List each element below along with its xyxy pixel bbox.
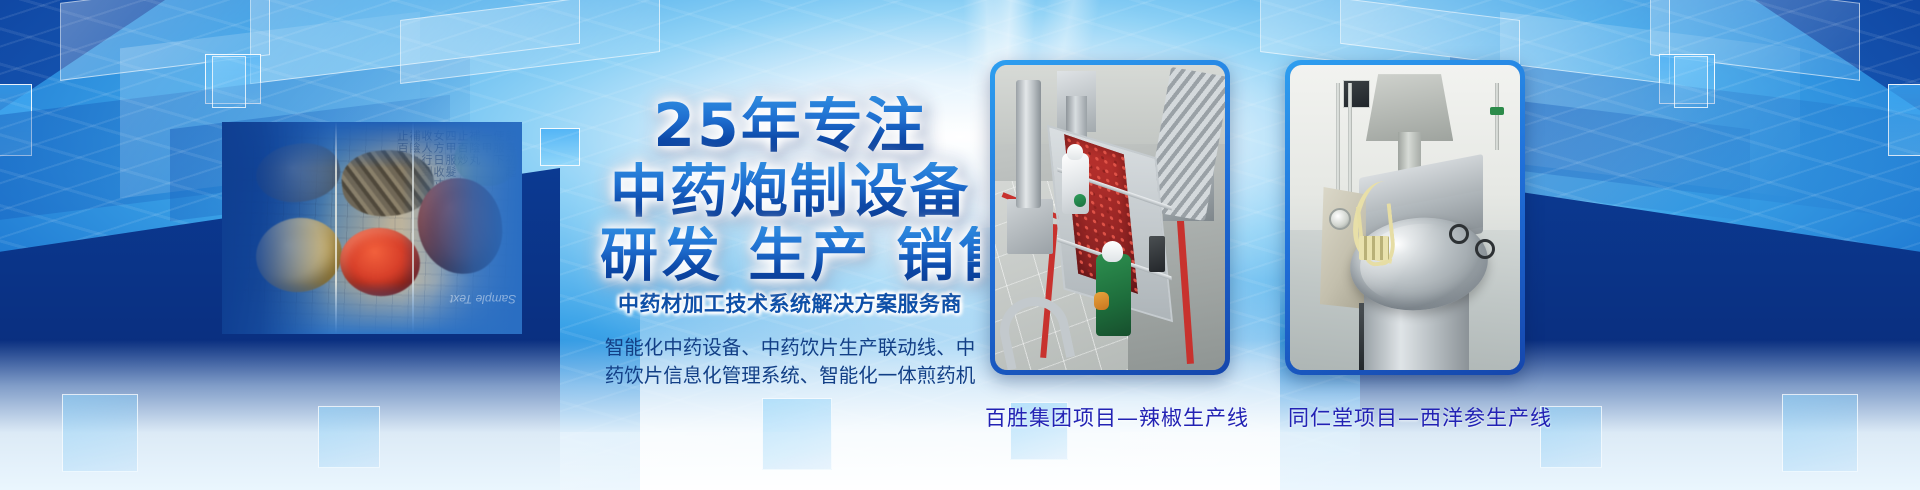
photo-worker-glove bbox=[1074, 194, 1086, 207]
headline-subtitle: 中药材加工技术系统解决方案服务商 bbox=[600, 288, 980, 318]
photo-worker-cap bbox=[1067, 144, 1084, 160]
photo-chili-line bbox=[995, 65, 1225, 370]
photo-card-ginseng-line[interactable] bbox=[1285, 60, 1525, 375]
photo-valve-manifold bbox=[1359, 236, 1389, 260]
promo-banner: 顧毒初起 便服下 一甲 補陰丸 止百炒 四甲服髮小 女方日收丈柏 收人行到 補陰… bbox=[0, 0, 1920, 490]
headline-line-2: 中药炮制设备 bbox=[600, 162, 980, 220]
photo-worker-glove bbox=[1094, 292, 1108, 310]
photo-machine-column bbox=[1016, 80, 1041, 208]
headline-body-line-1: 智能化中药设备、中药饮片生产联动线、中 bbox=[600, 334, 980, 362]
caption-chili-line: 百胜集团项目—辣椒生产线 bbox=[985, 402, 1249, 432]
headline-body: 智能化中药设备、中药饮片生产联动线、中 药饮片信息化管理系统、智能化一体煎药机 bbox=[600, 334, 980, 390]
photo-worker bbox=[1096, 254, 1131, 336]
collage-fade-left bbox=[222, 122, 332, 334]
photo-ginseng-line bbox=[1290, 65, 1520, 370]
photo-waste-bin bbox=[1149, 236, 1165, 273]
photo-card-chili-line[interactable] bbox=[990, 60, 1230, 375]
headline-block: 25年专注 中药炮制设备 研发 生产 销售 中药材加工技术系统解决方案服务商 智… bbox=[600, 96, 980, 390]
collage-watermark: Sample Text bbox=[450, 292, 516, 306]
photo-hand-wheel bbox=[1475, 239, 1495, 259]
photo-wall-valve bbox=[1495, 83, 1499, 150]
herb-collage-image: 顧毒初起 便服下 一甲 補陰丸 止百炒 四甲服髮小 女方日收丈柏 收人行到 補陰… bbox=[222, 122, 522, 334]
headline-line-1: 25年专注 bbox=[600, 96, 980, 156]
headline-body-line-2: 药饮片信息化管理系统、智能化一体煎药机 bbox=[600, 362, 980, 390]
photo-worker bbox=[1062, 153, 1090, 214]
caption-ginseng-line: 同仁堂项目—西洋参生产线 bbox=[1288, 402, 1552, 432]
photo-hand-wheel bbox=[1449, 224, 1469, 244]
headline-line-3: 研发 生产 销售 bbox=[600, 226, 980, 284]
photo-worker-cap bbox=[1102, 241, 1123, 262]
